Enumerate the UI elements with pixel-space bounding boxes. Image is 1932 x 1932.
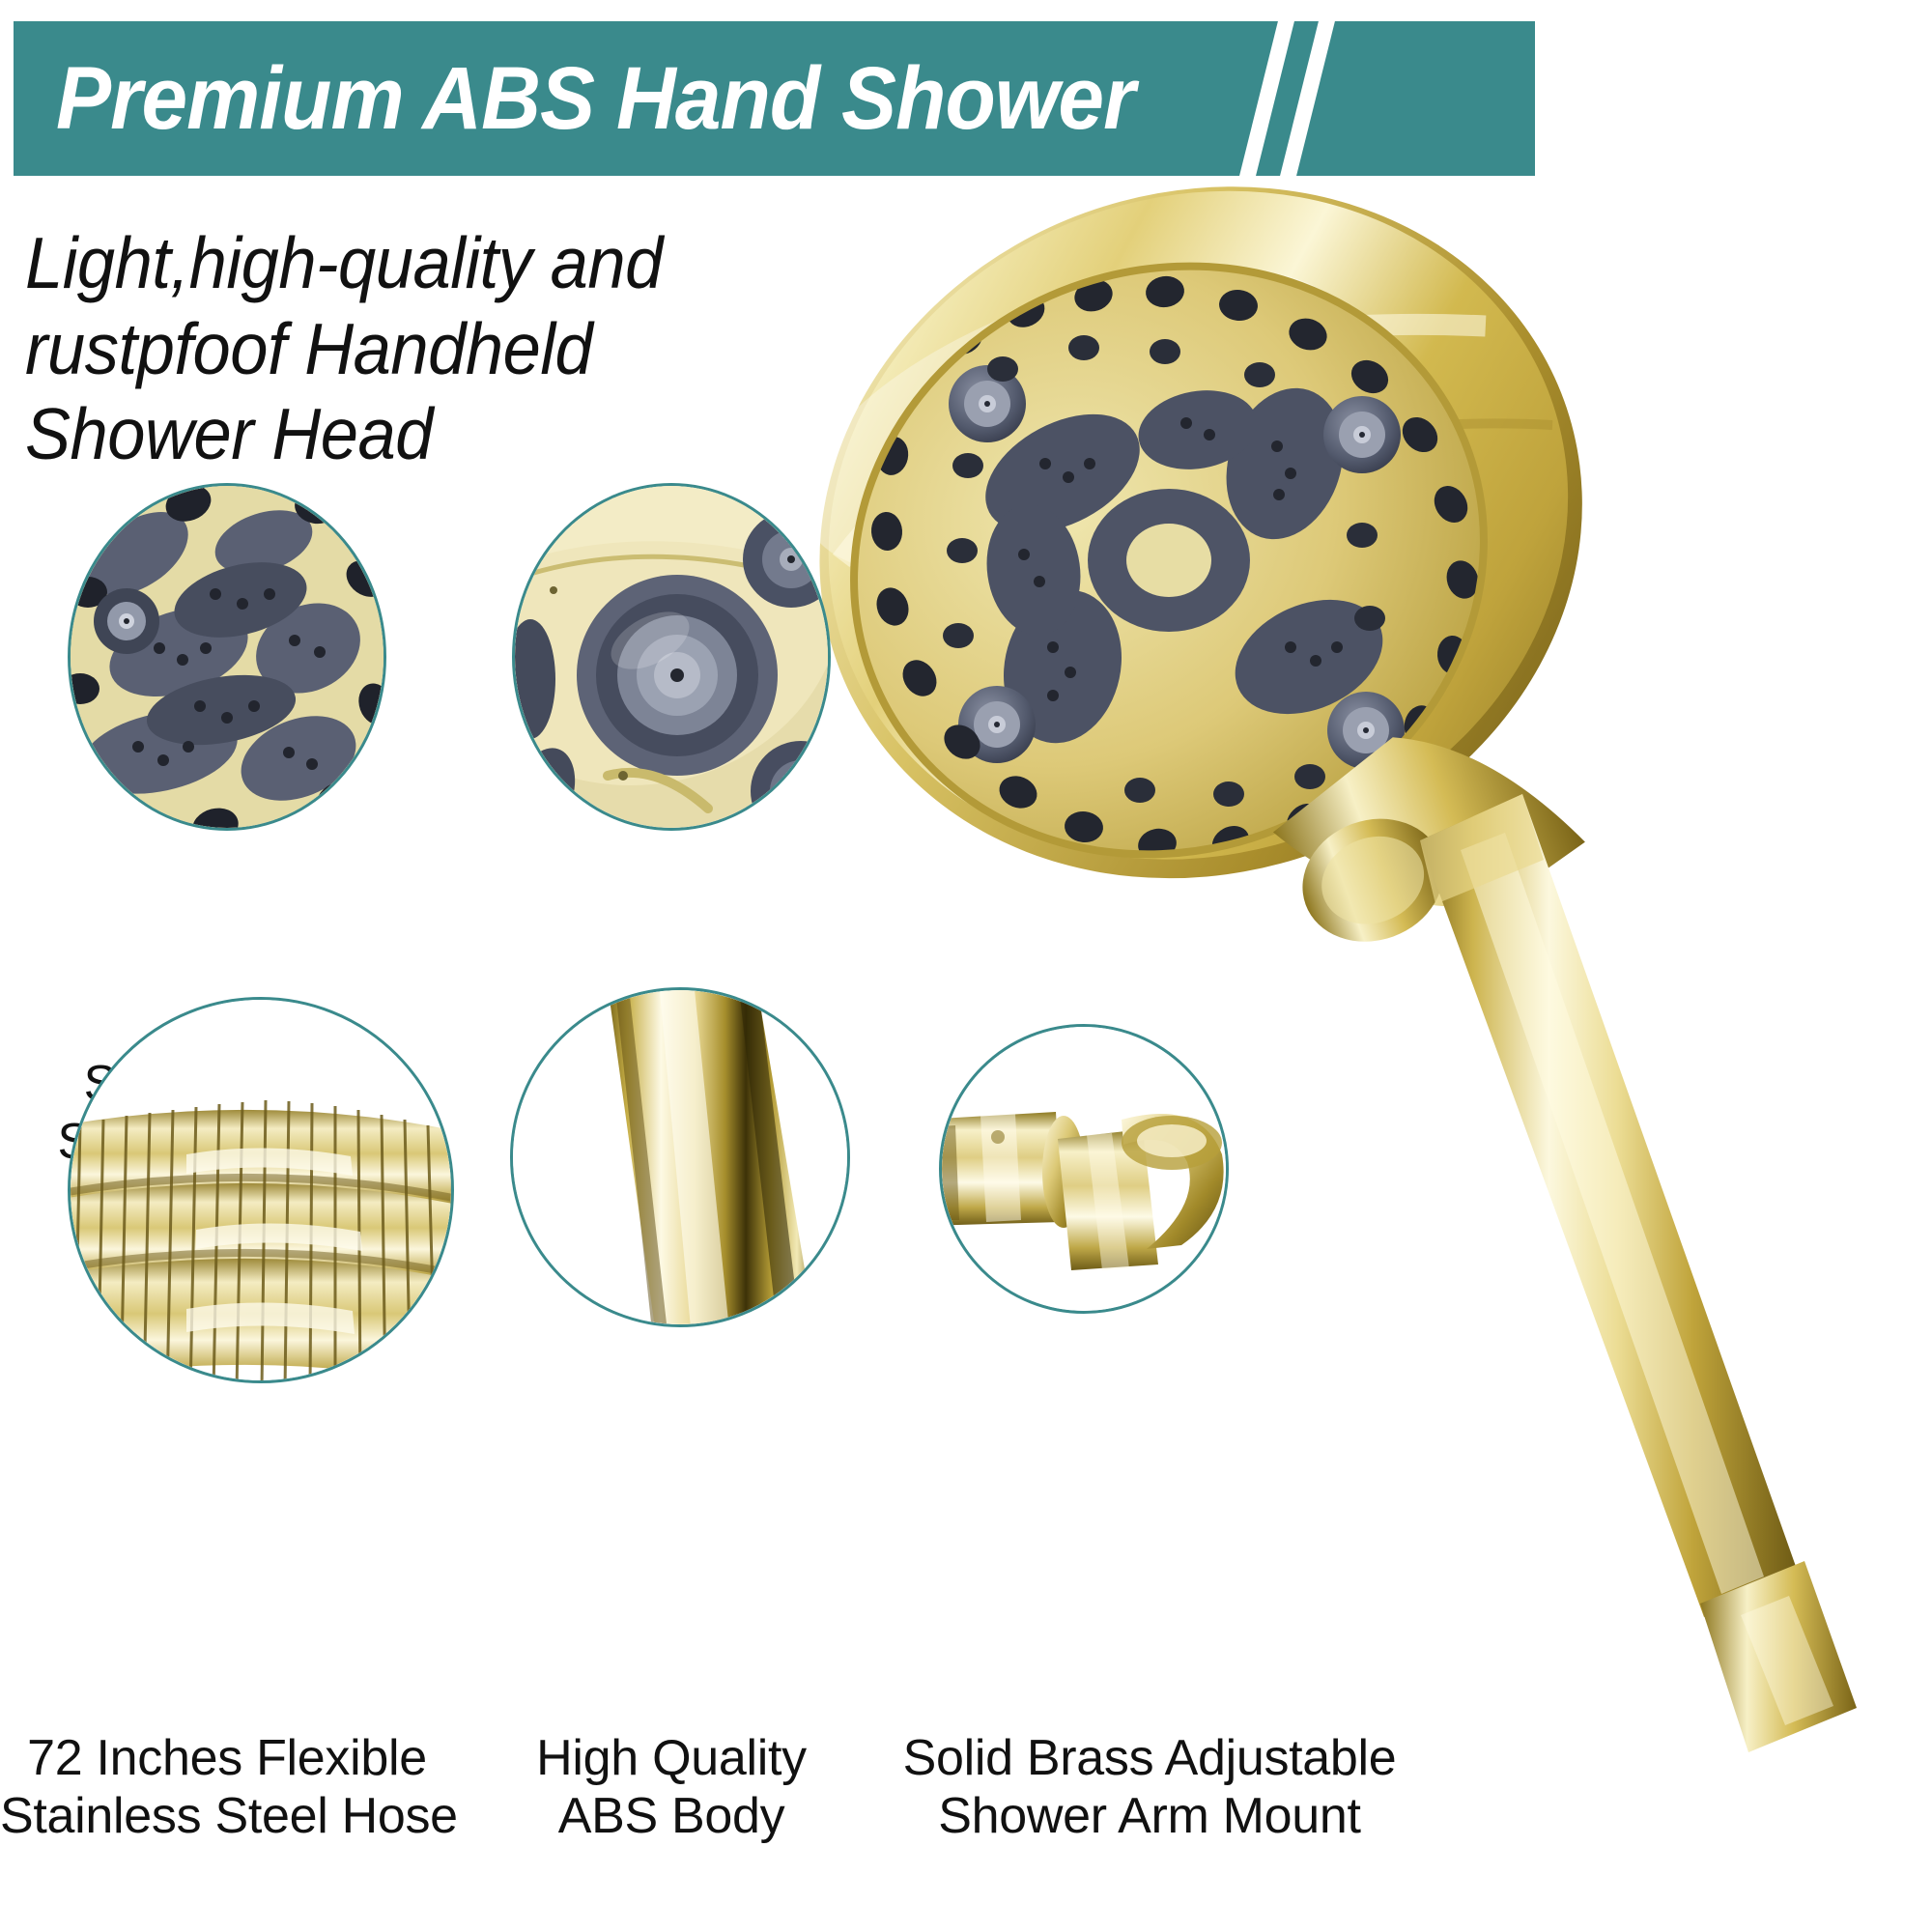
feature-image-self-cleaning-silicone-nozzle [68, 483, 386, 831]
page-title: Premium ABS Hand Shower [56, 54, 1134, 143]
caption-line-1: High Quality [483, 1729, 860, 1787]
feature-image-abs-body [510, 987, 850, 1327]
caption-line-1: 72 Inches Flexible [0, 1729, 454, 1787]
feature-image-brass-arm-mount [939, 1024, 1229, 1314]
caption-line-2: Shower Arm Mount [850, 1787, 1449, 1845]
header-banner: Premium ABS Hand Shower [14, 21, 1535, 176]
feature-caption-brass-arm-mount: Solid Brass Adjustable Shower Arm Mount [850, 1729, 1449, 1846]
feature-caption-abs-body: High Quality ABS Body [483, 1729, 860, 1846]
caption-line-1: Solid Brass Adjustable [850, 1729, 1449, 1787]
subtitle-line-3: Shower Head [25, 391, 933, 477]
caption-line-2: ABS Body [483, 1787, 860, 1845]
infographic-canvas: Premium ABS Hand Shower Light,high-quali… [0, 0, 1932, 1932]
feature-image-stainless-steel-hose [68, 997, 454, 1383]
caption-line-2: Stainless Steel Hose [0, 1787, 454, 1845]
subtitle: Light,high-quality and rustpfoof Handhel… [25, 220, 991, 477]
feature-image-mist-nozzles [512, 483, 831, 831]
subtitle-line-1: Light,high-quality and [25, 220, 933, 306]
feature-caption-stainless-steel-hose: 72 Inches Flexible Stainless Steel Hose [0, 1729, 454, 1846]
subtitle-line-2: rustpfoof Handheld [25, 306, 933, 392]
